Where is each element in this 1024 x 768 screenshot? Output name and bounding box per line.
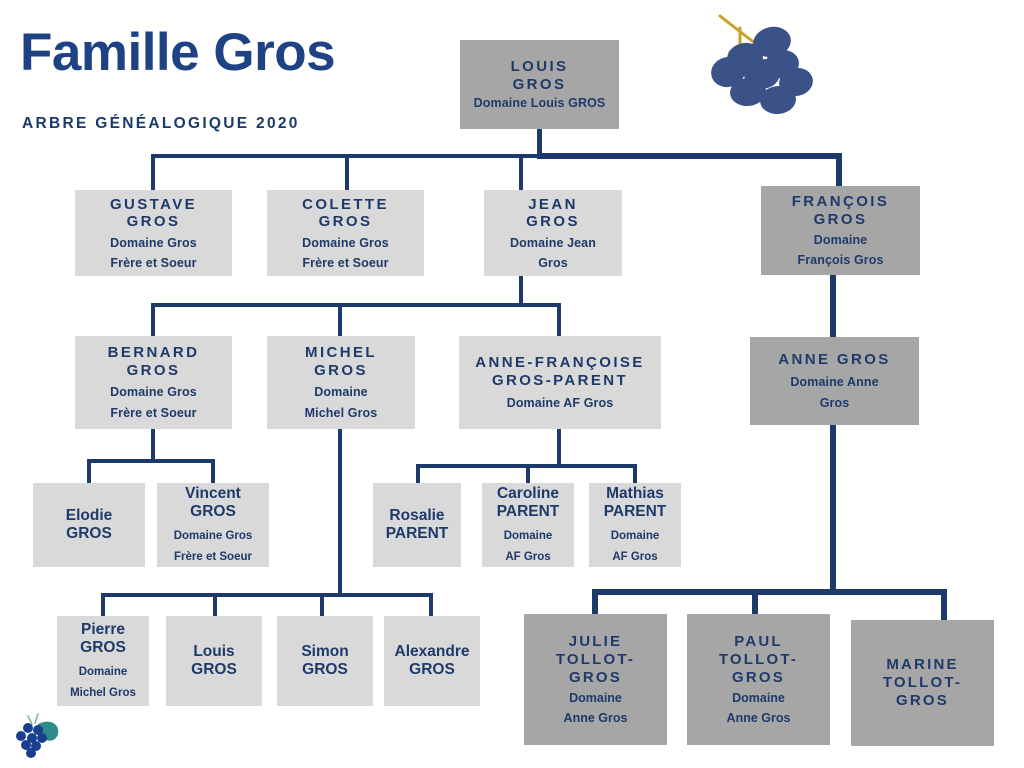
node-domain-line1: Domaine <box>504 530 553 544</box>
connector-marine-drop <box>941 589 947 621</box>
connector-louis2-drop <box>213 593 217 617</box>
node-name-line3: GROS <box>732 669 785 687</box>
node-name-line2: GROS <box>314 362 368 380</box>
node-name-line1: Louis <box>193 643 234 661</box>
node-name-line2: TOLLOT- <box>719 651 798 669</box>
node-name-line2: TOLLOT- <box>556 651 635 669</box>
node-name-line1: PAUL <box>734 633 783 651</box>
connector-bernard-drop <box>151 303 155 336</box>
node-name-line1: COLETTE <box>302 196 389 214</box>
node-domain-line2: Gros <box>820 396 850 411</box>
node-alexandre-gros[interactable]: Alexandre GROS <box>384 616 480 706</box>
node-francois-gros[interactable]: FRANÇOIS GROS Domaine François Gros <box>761 186 920 275</box>
connector-jean-stem <box>519 276 523 306</box>
node-domain-line1: Domaine <box>79 666 128 680</box>
node-name-line1: ANNE-FRANÇOISE <box>475 354 644 372</box>
node-domain-line1: Domaine <box>314 385 368 400</box>
grape-cluster-leaf-icon <box>8 706 66 762</box>
family-tree-canvas: Famille Gros ARBRE GÉNÉALOGIQUE 2020 <box>0 0 1024 768</box>
node-simon-gros[interactable]: Simon GROS <box>277 616 373 706</box>
node-name-line1: JEAN <box>528 196 578 214</box>
node-name-line2: PARENT <box>604 503 667 521</box>
connector-paul-drop <box>752 589 758 615</box>
node-domain-line1: Domaine <box>814 233 868 248</box>
node-domain-line2: AF Gros <box>505 551 550 565</box>
node-name-line1: LOUIS <box>511 58 569 76</box>
node-domain-line1: Domaine Gros <box>302 236 389 251</box>
node-domain-line2: Frère et Soeur <box>174 551 252 565</box>
connector-gen3-bus <box>151 303 561 307</box>
node-name-line1: ANNE GROS <box>778 351 890 369</box>
node-caroline-parent[interactable]: Caroline PARENT Domaine AF Gros <box>482 483 574 567</box>
node-name-line1: JULIE <box>569 633 623 651</box>
node-name-line2: GROS <box>80 639 126 657</box>
connector-rosalie-drop <box>416 464 420 484</box>
node-elodie-gros[interactable]: Elodie GROS <box>33 483 145 567</box>
node-domain-line1: Domaine <box>732 691 785 706</box>
node-domain-line2: François Gros <box>797 253 883 268</box>
node-domain-line1: Domaine AF Gros <box>507 396 614 411</box>
node-name-line1: Rosalie <box>389 507 444 525</box>
node-domain-line2: Michel Gros <box>70 687 136 701</box>
node-name-line2: GROS <box>66 525 112 543</box>
connector-vincent-drop <box>211 459 215 484</box>
node-name-line2: PARENT <box>386 525 449 543</box>
connector-alexandre-drop <box>429 593 433 617</box>
node-name-line2: PARENT <box>497 503 560 521</box>
connector-gustave-drop <box>151 154 155 190</box>
node-name-line2: GROS-PARENT <box>492 372 628 390</box>
node-domain-line2: Frère et Soeur <box>110 406 196 421</box>
node-domain-line1: Domaine Gros <box>174 530 253 544</box>
node-name-line1: Pierre <box>81 621 125 639</box>
node-anne-francoise-gros-parent[interactable]: ANNE-FRANÇOISE GROS-PARENT Domaine AF Gr… <box>459 336 661 429</box>
node-name-line1: Vincent <box>185 485 241 503</box>
page-subtitle: ARBRE GÉNÉALOGIQUE 2020 <box>22 115 300 133</box>
node-vincent-gros[interactable]: Vincent GROS Domaine Gros Frère et Soeur <box>157 483 269 567</box>
connector-julie-drop <box>592 589 598 615</box>
node-domain-line2: Frère et Soeur <box>110 256 196 271</box>
node-jean-gros[interactable]: JEAN GROS Domaine Jean Gros <box>484 190 622 276</box>
node-name-line2: TOLLOT- <box>883 674 962 692</box>
node-name-line1: Alexandre <box>395 643 470 661</box>
node-name-line1: Simon <box>301 643 348 661</box>
node-domain-line1: Domaine Anne <box>790 375 878 390</box>
node-louis-gros-2[interactable]: Louis GROS <box>166 616 262 706</box>
connector-af-drop <box>557 303 561 336</box>
connector-michel-bus <box>101 593 433 597</box>
node-name-line3: GROS <box>569 669 622 687</box>
node-mathias-parent[interactable]: Mathias PARENT Domaine AF Gros <box>589 483 681 567</box>
connector-bernard-bus <box>87 459 215 463</box>
connector-pierre-drop <box>101 593 105 617</box>
grape-cluster-icon <box>700 8 830 118</box>
connector-elodie-drop <box>87 459 91 484</box>
node-domain-line1: Domaine Gros <box>110 236 197 251</box>
connector-michel-stem <box>338 429 342 595</box>
connector-anne-stem <box>830 425 836 593</box>
connector-bernard-stem <box>151 429 155 462</box>
node-domain-line2: Anne Gros <box>727 711 791 726</box>
node-name-line2: GROS <box>409 661 455 679</box>
node-name-line1: Mathias <box>606 485 664 503</box>
node-name-line2: GROS <box>814 211 868 229</box>
node-name-line1: MICHEL <box>305 344 377 362</box>
node-domain-line1: Domaine <box>611 530 660 544</box>
node-name-line2: GROS <box>127 362 181 380</box>
node-gustave-gros[interactable]: GUSTAVE GROS Domaine Gros Frère et Soeur <box>75 190 232 276</box>
node-domain-line2: Michel Gros <box>305 406 378 421</box>
connector-af-stem <box>557 429 561 467</box>
node-marine-tollot-gros[interactable]: MARINE TOLLOT- GROS <box>851 620 994 746</box>
connector-gen2-bus-right <box>537 153 842 159</box>
node-anne-gros[interactable]: ANNE GROS Domaine Anne Gros <box>750 337 919 425</box>
node-domain-line2: Gros <box>538 256 568 271</box>
node-name-line2: GROS <box>319 213 373 231</box>
node-domain-line1: Domaine Jean <box>510 236 596 251</box>
node-domain-line2: Anne Gros <box>564 711 628 726</box>
node-name-line2: GROS <box>190 503 236 521</box>
node-name-line1: BERNARD <box>108 344 200 362</box>
node-name-line1: FRANÇOIS <box>792 193 890 211</box>
connector-jean-drop <box>519 154 523 190</box>
node-domain-line1: Domaine <box>569 691 622 706</box>
node-rosalie-parent[interactable]: Rosalie PARENT <box>373 483 461 567</box>
node-paul-tollot-gros[interactable]: PAUL TOLLOT- GROS Domaine Anne Gros <box>687 614 830 745</box>
node-domain-line2: AF Gros <box>612 551 657 565</box>
node-bernard-gros[interactable]: BERNARD GROS Domaine Gros Frère et Soeur <box>75 336 232 429</box>
node-name-line1: GUSTAVE <box>110 196 197 214</box>
node-name-line1: Caroline <box>497 485 559 503</box>
node-louis-gros[interactable]: LOUIS GROS Domaine Louis GROS <box>460 40 619 129</box>
connector-francois-anne <box>830 275 836 337</box>
node-domain-line1: Domaine Gros <box>110 385 197 400</box>
node-michel-gros[interactable]: MICHEL GROS Domaine Michel Gros <box>267 336 415 429</box>
node-name-line2: GROS <box>302 661 348 679</box>
connector-francois-drop <box>836 154 842 186</box>
node-julie-tollot-gros[interactable]: JULIE TOLLOT- GROS Domaine Anne Gros <box>524 614 667 745</box>
node-name-line1: MARINE <box>886 656 958 674</box>
node-name-line1: Elodie <box>66 507 113 525</box>
node-domain-line2: Frère et Soeur <box>302 256 388 271</box>
node-pierre-gros[interactable]: Pierre GROS Domaine Michel Gros <box>57 616 149 706</box>
connector-michel-drop <box>338 303 342 336</box>
connector-caroline-drop <box>526 464 530 484</box>
node-name-line2: GROS <box>191 661 237 679</box>
connector-mathias-drop <box>633 464 637 484</box>
connector-colette-drop <box>345 154 349 190</box>
connector-simon-drop <box>320 593 324 617</box>
node-name-line2: GROS <box>513 76 567 94</box>
node-colette-gros[interactable]: COLETTE GROS Domaine Gros Frère et Soeur <box>267 190 424 276</box>
connector-anne-bus <box>592 589 947 595</box>
page-title: Famille Gros <box>20 22 335 84</box>
node-name-line3: GROS <box>896 692 949 710</box>
node-name-line2: GROS <box>526 213 580 231</box>
node-domain: Domaine Louis GROS <box>474 96 606 111</box>
node-name-line2: GROS <box>127 213 181 231</box>
